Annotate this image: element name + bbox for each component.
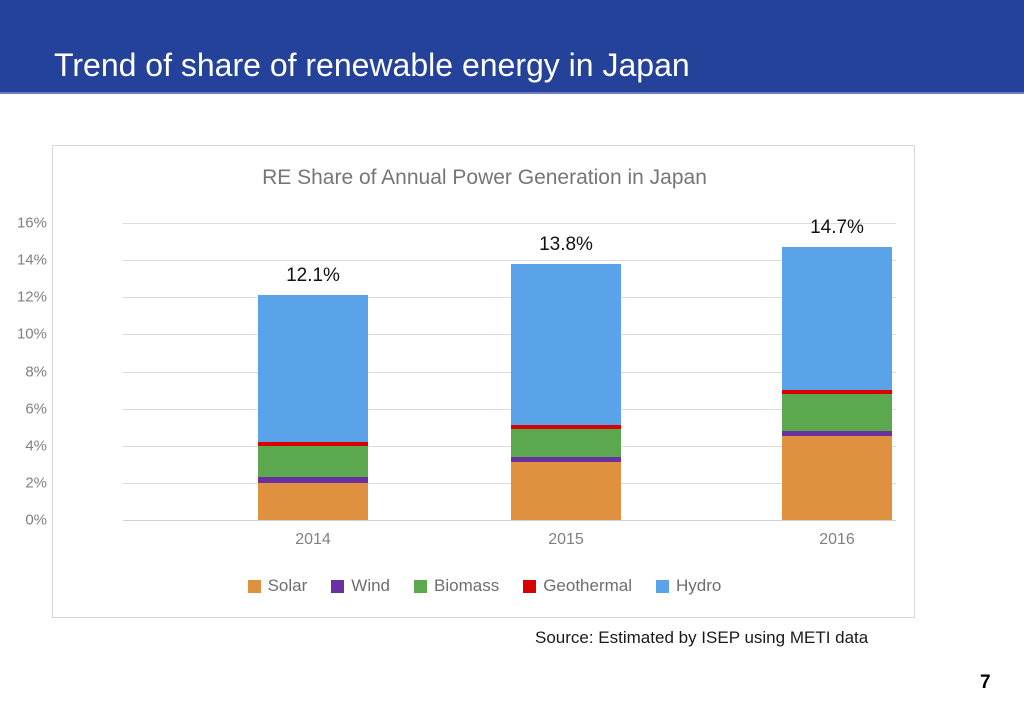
y-axis-tick-label: 6%	[0, 400, 47, 417]
legend-swatch-icon	[523, 580, 536, 593]
bar-segment-geothermal[interactable]	[782, 390, 892, 394]
legend-swatch-icon	[248, 580, 261, 593]
bar-total-label: 13.8%	[486, 234, 646, 256]
x-axis-tick-label: 2016	[757, 531, 917, 549]
gridline	[123, 297, 896, 298]
bar-segment-solar[interactable]	[258, 483, 368, 520]
bar-group[interactable]: 14.7%	[782, 247, 892, 520]
legend-item-wind[interactable]: Wind	[331, 576, 390, 596]
gridline	[123, 260, 896, 261]
bar-group[interactable]: 12.1%	[258, 295, 368, 520]
legend-item-biomass[interactable]: Biomass	[414, 576, 499, 596]
bar-segment-solar[interactable]	[511, 462, 621, 520]
legend-item-geothermal[interactable]: Geothermal	[523, 576, 632, 596]
axis-baseline	[123, 520, 896, 521]
x-axis-tick-label: 2014	[233, 531, 393, 549]
y-axis-tick-label: 10%	[0, 326, 47, 343]
legend-item-solar[interactable]: Solar	[248, 576, 308, 596]
bar-segment-hydro[interactable]	[258, 295, 368, 442]
bar-segment-biomass[interactable]	[782, 394, 892, 431]
gridline	[123, 483, 896, 484]
gridline	[123, 446, 896, 447]
bar-total-label: 12.1%	[233, 265, 393, 287]
legend-label: Geothermal	[543, 576, 632, 596]
gridline	[123, 372, 896, 373]
chart-container: RE Share of Annual Power Generation in J…	[52, 145, 915, 618]
y-axis-tick-label: 16%	[0, 215, 47, 232]
chart-title: RE Share of Annual Power Generation in J…	[53, 166, 916, 190]
legend-swatch-icon	[331, 580, 344, 593]
legend-swatch-icon	[656, 580, 669, 593]
bar-segment-solar[interactable]	[782, 436, 892, 520]
legend-label: Hydro	[676, 576, 721, 596]
chart-plot-area: 0%2%4%6%8%10%12%14%16%12.1%201413.8%2015…	[123, 223, 896, 520]
source-note: Source: Estimated by ISEP using METI dat…	[535, 628, 868, 648]
y-axis-tick-label: 0%	[0, 512, 47, 529]
page-number: 7	[980, 672, 991, 694]
bar-segment-wind[interactable]	[782, 431, 892, 437]
legend-swatch-icon	[414, 580, 427, 593]
legend-item-hydro[interactable]: Hydro	[656, 576, 721, 596]
y-axis-tick-label: 4%	[0, 437, 47, 454]
gridline	[123, 409, 896, 410]
bar-segment-geothermal[interactable]	[258, 442, 368, 446]
legend-label: Wind	[351, 576, 390, 596]
page-title: Trend of share of renewable energy in Ja…	[54, 46, 690, 84]
x-axis-tick-label: 2015	[486, 531, 646, 549]
y-axis-tick-label: 8%	[0, 363, 47, 380]
gridline	[123, 334, 896, 335]
chart-legend: SolarWindBiomassGeothermalHydro	[53, 576, 916, 596]
bar-segment-hydro[interactable]	[511, 264, 621, 425]
bar-segment-biomass[interactable]	[258, 446, 368, 478]
title-bar-underline	[0, 92, 1024, 94]
y-axis-tick-label: 12%	[0, 289, 47, 306]
bar-group[interactable]: 13.8%	[511, 264, 621, 520]
bar-segment-hydro[interactable]	[782, 247, 892, 390]
legend-label: Biomass	[434, 576, 499, 596]
legend-label: Solar	[268, 576, 308, 596]
bar-total-label: 14.7%	[757, 217, 917, 239]
bar-segment-wind[interactable]	[511, 457, 621, 463]
bar-segment-geothermal[interactable]	[511, 425, 621, 429]
y-axis-tick-label: 2%	[0, 474, 47, 491]
bar-segment-wind[interactable]	[258, 477, 368, 483]
y-axis-tick-label: 14%	[0, 252, 47, 269]
bar-segment-biomass[interactable]	[511, 429, 621, 457]
